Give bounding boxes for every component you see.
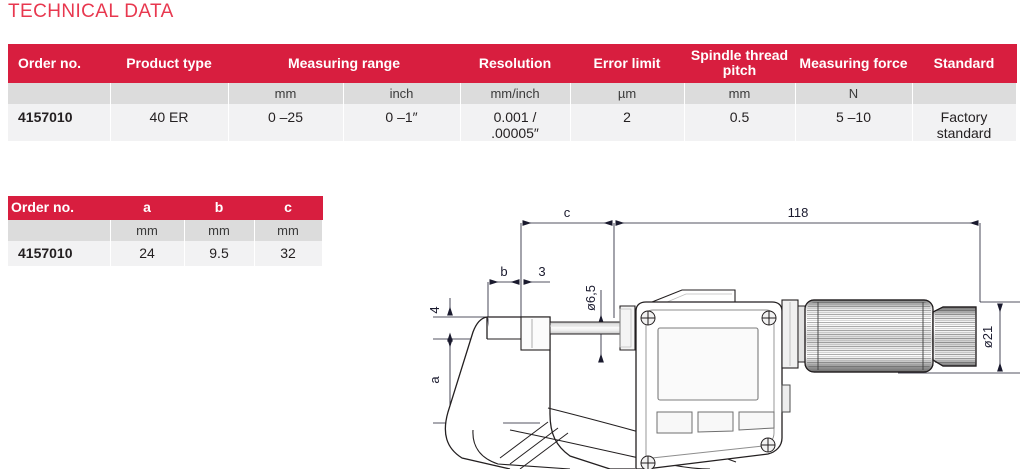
dim-unit-a: mm	[110, 220, 184, 241]
dimension-c	[521, 223, 612, 330]
col-header-order-no: Order no.	[8, 44, 110, 83]
dimensions-unit-row: mm mm mm	[8, 220, 322, 241]
cell-resolution-line1: 0.001 /	[461, 109, 570, 125]
unit-spindle-thread-pitch: mm	[684, 83, 795, 104]
cell-product-type: 40 ER	[110, 104, 228, 141]
dim-col-header-b: b	[184, 196, 254, 220]
unit-resolution: mm/inch	[460, 83, 570, 104]
cell-standard: Factory standard	[912, 104, 1016, 141]
dim-unit-order-no	[8, 220, 110, 241]
dimensions-header-row: Order no. a b c	[8, 196, 322, 220]
sleeve	[782, 300, 805, 368]
dim-cell-c: 32	[254, 241, 322, 266]
col-header-spindle-thread-pitch: Spindle thread pitch	[684, 44, 795, 83]
dimensions-table: Order no. a b c mm mm mm 4157010 24 9.5 …	[8, 196, 323, 266]
unit-order-no	[8, 83, 110, 104]
dimension-label-spindle-diameter: ø6,5	[583, 285, 598, 311]
cell-spindle-thread-pitch: 0.5	[684, 104, 795, 141]
dimension-label-a: a	[427, 376, 442, 384]
page-title: TECHNICAL DATA	[8, 1, 174, 23]
col-header-error-limit: Error limit	[570, 44, 684, 83]
table-row: 4157010 40 ER 0 –25 0 –1″ 0.001 / .00005…	[8, 104, 1016, 141]
specifications-header-row: Order no. Product type Measuring range R…	[8, 44, 1016, 83]
dimension-label-b: b	[500, 264, 507, 279]
col-header-measuring-force: Measuring force	[795, 44, 912, 83]
dim-col-header-order-no: Order no.	[8, 196, 110, 220]
cell-measuring-range-mm: 0 –25	[228, 104, 343, 141]
micrometer-body	[636, 290, 790, 469]
cell-standard-line1: Factory	[913, 109, 1016, 125]
dimension-label-4: 4	[427, 306, 442, 313]
dim-cell-b: 9.5	[184, 241, 254, 266]
dimension-label-118: 118	[788, 205, 809, 220]
table-row: 4157010 24 9.5 32	[8, 241, 322, 266]
cell-measuring-force: 5 –10	[795, 104, 912, 141]
specifications-table: Order no. Product type Measuring range R…	[8, 44, 1017, 141]
cell-order-no: 4157010	[8, 104, 110, 141]
col-header-standard: Standard	[912, 44, 1016, 83]
cell-measuring-range-inch: 0 –1″	[343, 104, 460, 141]
dimension-label-3: 3	[538, 264, 545, 279]
cell-error-limit: 2	[570, 104, 684, 141]
unit-standard	[912, 83, 1016, 104]
dim-cell-order-no: 4157010	[8, 241, 110, 266]
specifications-unit-row: mm inch mm/inch µm mm N	[8, 83, 1016, 104]
ratchet-knob	[933, 307, 976, 366]
cell-resolution: 0.001 / .00005″	[460, 104, 570, 141]
dim-col-header-c: c	[254, 196, 322, 220]
dim-unit-c: mm	[254, 220, 322, 241]
lcd-display	[658, 328, 758, 400]
micrometer-technical-drawing: 118 c b 3 4 a ø6,5 ø21	[420, 190, 1024, 469]
dimension-label-c: c	[564, 205, 571, 220]
side-button	[782, 385, 790, 412]
unit-error-limit: µm	[570, 83, 684, 104]
col-header-resolution: Resolution	[460, 44, 570, 83]
unit-product-type	[110, 83, 228, 104]
unit-measuring-range-mm: mm	[228, 83, 343, 104]
cell-standard-line2: standard	[913, 125, 1016, 141]
knurled-thimble	[805, 300, 933, 372]
spindle-bushing	[620, 306, 635, 350]
dim-cell-a: 24	[110, 241, 184, 266]
anvil	[521, 317, 550, 350]
dim-col-header-a: a	[110, 196, 184, 220]
col-header-product-type: Product type	[110, 44, 228, 83]
col-header-measuring-range: Measuring range	[228, 44, 460, 83]
unit-measuring-range-inch: inch	[343, 83, 460, 104]
unit-measuring-force: N	[795, 83, 912, 104]
cell-resolution-line2: .00005″	[461, 125, 570, 141]
dim-unit-b: mm	[184, 220, 254, 241]
dimension-label-thimble-diameter: ø21	[980, 326, 995, 348]
